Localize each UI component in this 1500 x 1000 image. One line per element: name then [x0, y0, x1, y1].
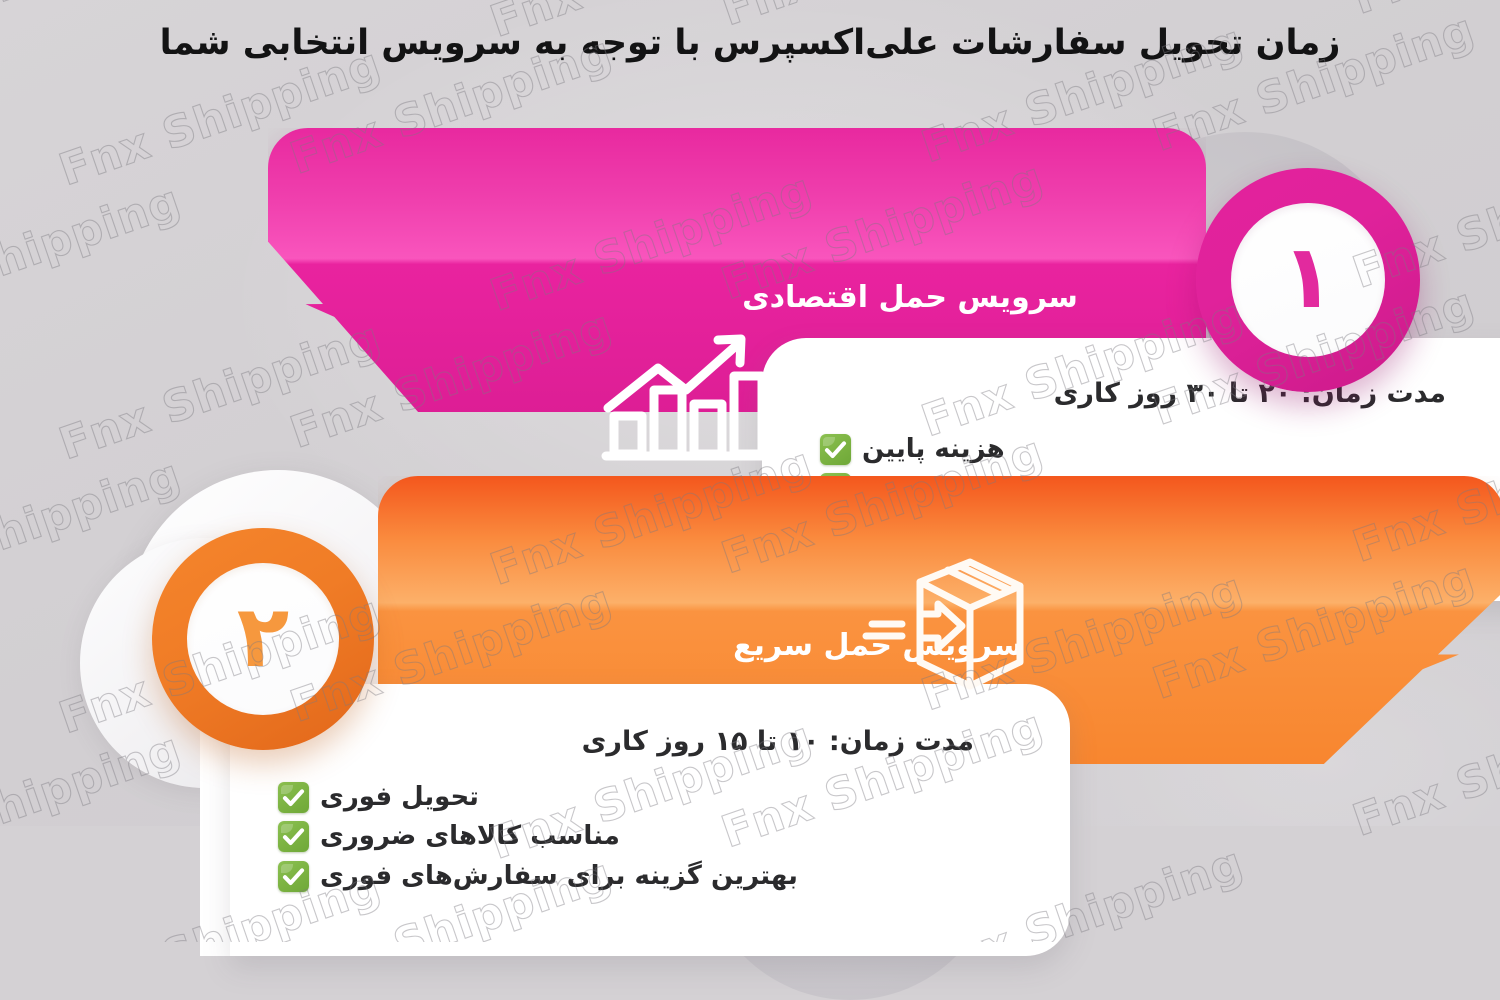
economy-card-header: سرویس حمل اقتصادی [610, 280, 1210, 315]
list-item: تحویل فوری [278, 781, 974, 814]
express-text-block: مدت زمان: ۱۰ تا ۱۵ روز کاری تحویل فوری م… [230, 684, 1070, 899]
badge-two-inner: ۲ [187, 563, 339, 715]
check-icon [820, 434, 851, 465]
step-number-badge-two: ۲ [152, 528, 374, 750]
badge-one-inner: ۱ [1231, 203, 1385, 357]
list-item-label: مناسب کالاهای ضروری [320, 820, 620, 853]
list-item-label: هزینه پایین [862, 433, 1005, 466]
check-icon [278, 782, 309, 813]
list-item-label: بهترین گزینه برای سفارش‌های فوری [320, 860, 798, 893]
list-item: مناسب کالاهای ضروری [278, 820, 974, 853]
check-icon [278, 861, 309, 892]
card-express-shipping: سرویس حمل سریع مدت زمان: ۱۰ تا ۱۵ روز کا… [200, 476, 1300, 826]
list-item: هزینه پایین [820, 433, 1446, 466]
page-title: زمان تحویل سفارشات علی‌اکسپرس با توجه به… [0, 22, 1500, 66]
express-content-panel: مدت زمان: ۱۰ تا ۱۵ روز کاری تحویل فوری م… [230, 684, 1070, 956]
list-item-label: تحویل فوری [320, 781, 479, 814]
express-duration: مدت زمان: ۱۰ تا ۱۵ روز کاری [278, 726, 974, 757]
badge-one-number: ۱ [1281, 233, 1335, 327]
bar-chart-growth-icon [598, 324, 768, 464]
express-feature-list: تحویل فوری مناسب کالاهای ضروری بهترین گز… [278, 781, 974, 893]
card-economy-shipping: سرویس حمل اقتصادی مدت زمان: ۲۰ تا ۳۰ روز… [268, 128, 1298, 483]
fast-shipping-box-icon [858, 552, 1028, 698]
step-number-badge-one: ۱ [1196, 168, 1420, 392]
badge-two-number: ۲ [237, 594, 290, 684]
check-icon [278, 821, 309, 852]
list-item: بهترین گزینه برای سفارش‌های فوری [278, 860, 974, 893]
